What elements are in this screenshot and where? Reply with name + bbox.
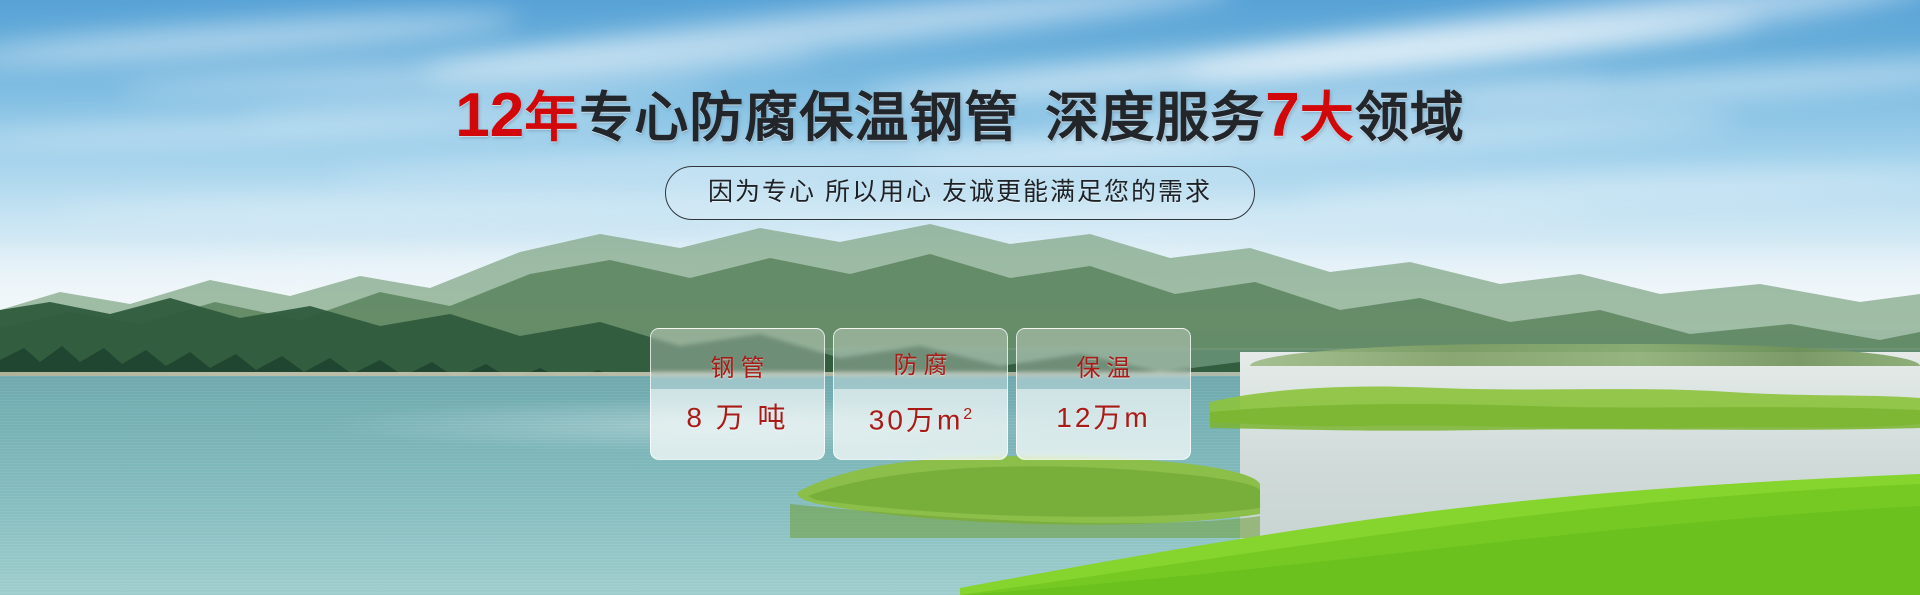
stat-card-value-main: 12万m [1056,402,1150,433]
headline-fields-unit: 大 [1300,88,1355,148]
headline-main-phrase: 专心防腐保温钢管 [579,88,1019,148]
stat-card-steel-pipe[interactable]: 钢管 8 万 吨 [650,328,825,460]
stat-card-value-main: 30万m [869,405,963,436]
stat-card-value: 30万m2 [869,399,972,436]
subtitle-pill: 因为专心 所以用心 友诚更能满足您的需求 [665,166,1255,220]
headline-years-number: 12 [455,81,524,150]
marshland-icon [1210,372,1920,436]
headline-fields-number: 7 [1265,81,1299,150]
subtitle-container: 因为专心 所以用心 友诚更能满足您的需求 [0,166,1920,220]
stat-card-label: 保温 [1071,354,1137,384]
stat-cards-row: 钢管 8 万 吨 防腐 30万m2 保温 12万m [650,328,1191,460]
stat-card-label: 钢管 [705,354,771,384]
headline-years-unit: 年 [524,88,579,148]
stat-card-value: 8 万 吨 [686,402,788,434]
stat-card-insulation[interactable]: 保温 12万m [1016,328,1191,460]
headline-service-phrase: 深度服务 [1045,88,1265,148]
foreground-grass-icon [960,470,1920,595]
stat-card-label: 防腐 [888,351,954,381]
headline-fields-label: 领域 [1355,88,1465,148]
stat-card-value-main: 8 万 吨 [686,402,788,433]
stat-card-anticorrosion[interactable]: 防腐 30万m2 [833,328,1008,460]
stat-card-value: 12万m [1056,402,1150,434]
page-title: 12年专心防腐保温钢管深度服务7大领域 [0,86,1920,148]
stat-card-value-superscript: 2 [963,406,972,423]
hero-banner: 12年专心防腐保温钢管深度服务7大领域 因为专心 所以用心 友诚更能满足您的需求… [0,0,1920,595]
